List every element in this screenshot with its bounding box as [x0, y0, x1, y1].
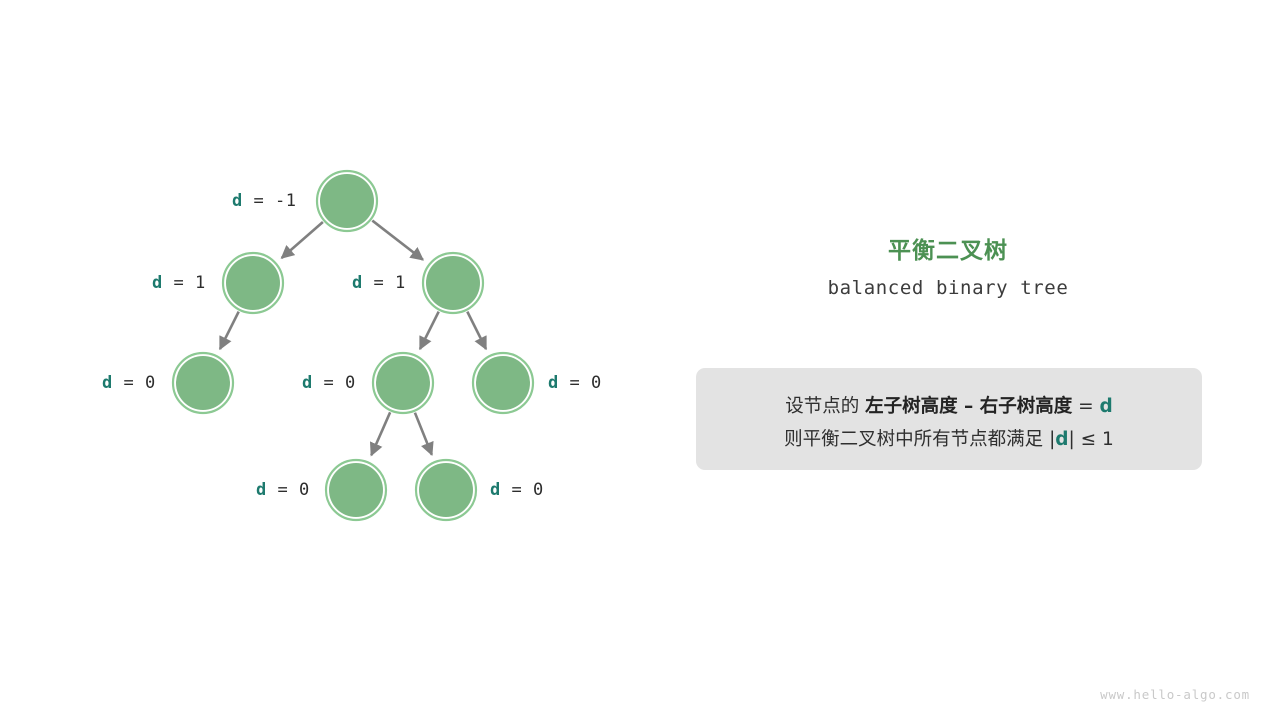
node-balance-variable: d [352, 273, 363, 293]
node-balance-variable: d [302, 373, 313, 393]
watermark: www.hello-algo.com [1100, 687, 1250, 702]
node-balance-value: = -1 [243, 191, 297, 211]
node-balance-value: = 0 [501, 480, 544, 500]
node-balance-label: d = 0 [548, 373, 602, 393]
node-balance-value: = 1 [163, 273, 206, 293]
node-balance-label: d = -1 [232, 191, 296, 211]
tree-svg [0, 0, 660, 720]
formula-line1-bold: 左子树高度 – 右子树高度 [865, 396, 1072, 417]
node-balance-variable: d [152, 273, 163, 293]
info-panel: 平衡二叉树 balanced binary tree 设节点的 左子树高度 – … [660, 0, 1280, 720]
tree-node [176, 356, 230, 410]
formula-line2-variable: d [1055, 429, 1068, 450]
tree-node [329, 463, 383, 517]
page-title: 平衡二叉树 [660, 231, 1236, 265]
formula-line2-prefix: 则平衡二叉树中所有节点都满足 [784, 429, 1049, 450]
node-balance-variable: d [232, 191, 243, 211]
binary-tree-diagram: d = -1d = 1d = 1d = 0d = 0d = 0d = 0d = … [0, 0, 660, 720]
formula-line-1: 设节点的 左子树高度 – 右子树高度 = d [696, 392, 1202, 418]
tree-edge [420, 312, 439, 349]
tree-nodes [173, 171, 533, 520]
formula-line1-prefix: 设节点的 [785, 396, 865, 417]
node-balance-value: = 0 [559, 373, 602, 393]
node-balance-label: d = 0 [490, 480, 544, 500]
tree-edge [372, 221, 423, 260]
formula-line2-suffix: ≤ 1 [1075, 429, 1114, 450]
page-subtitle: balanced binary tree [660, 277, 1236, 299]
tree-edges [220, 221, 486, 456]
formula-line-2: 则平衡二叉树中所有节点都满足 |d| ≤ 1 [696, 425, 1202, 451]
tree-edge [415, 413, 432, 455]
node-balance-variable: d [548, 373, 559, 393]
node-balance-variable: d [256, 480, 267, 500]
tree-edge [282, 222, 323, 258]
node-balance-value: = 0 [267, 480, 310, 500]
formula-line1-variable: d [1100, 396, 1113, 417]
node-balance-label: d = 0 [302, 373, 356, 393]
formula-line1-equals: = [1072, 396, 1099, 417]
tree-node [376, 356, 430, 410]
node-balance-variable: d [490, 480, 501, 500]
tree-edge [467, 312, 486, 349]
tree-node [226, 256, 280, 310]
node-balance-label: d = 0 [256, 480, 310, 500]
node-balance-label: d = 1 [352, 273, 406, 293]
tree-node [426, 256, 480, 310]
node-balance-label: d = 0 [102, 373, 156, 393]
tree-node [320, 174, 374, 228]
node-balance-value: = 0 [113, 373, 156, 393]
node-balance-variable: d [102, 373, 113, 393]
node-balance-value: = 1 [363, 273, 406, 293]
tree-edge [220, 312, 239, 349]
node-balance-label: d = 1 [152, 273, 206, 293]
tree-node [419, 463, 473, 517]
formula-box: 设节点的 左子树高度 – 右子树高度 = d 则平衡二叉树中所有节点都满足 |d… [696, 368, 1202, 470]
diagram-page: d = -1d = 1d = 1d = 0d = 0d = 0d = 0d = … [0, 0, 1280, 720]
tree-edge [371, 412, 390, 455]
tree-node [476, 356, 530, 410]
node-balance-value: = 0 [313, 373, 356, 393]
